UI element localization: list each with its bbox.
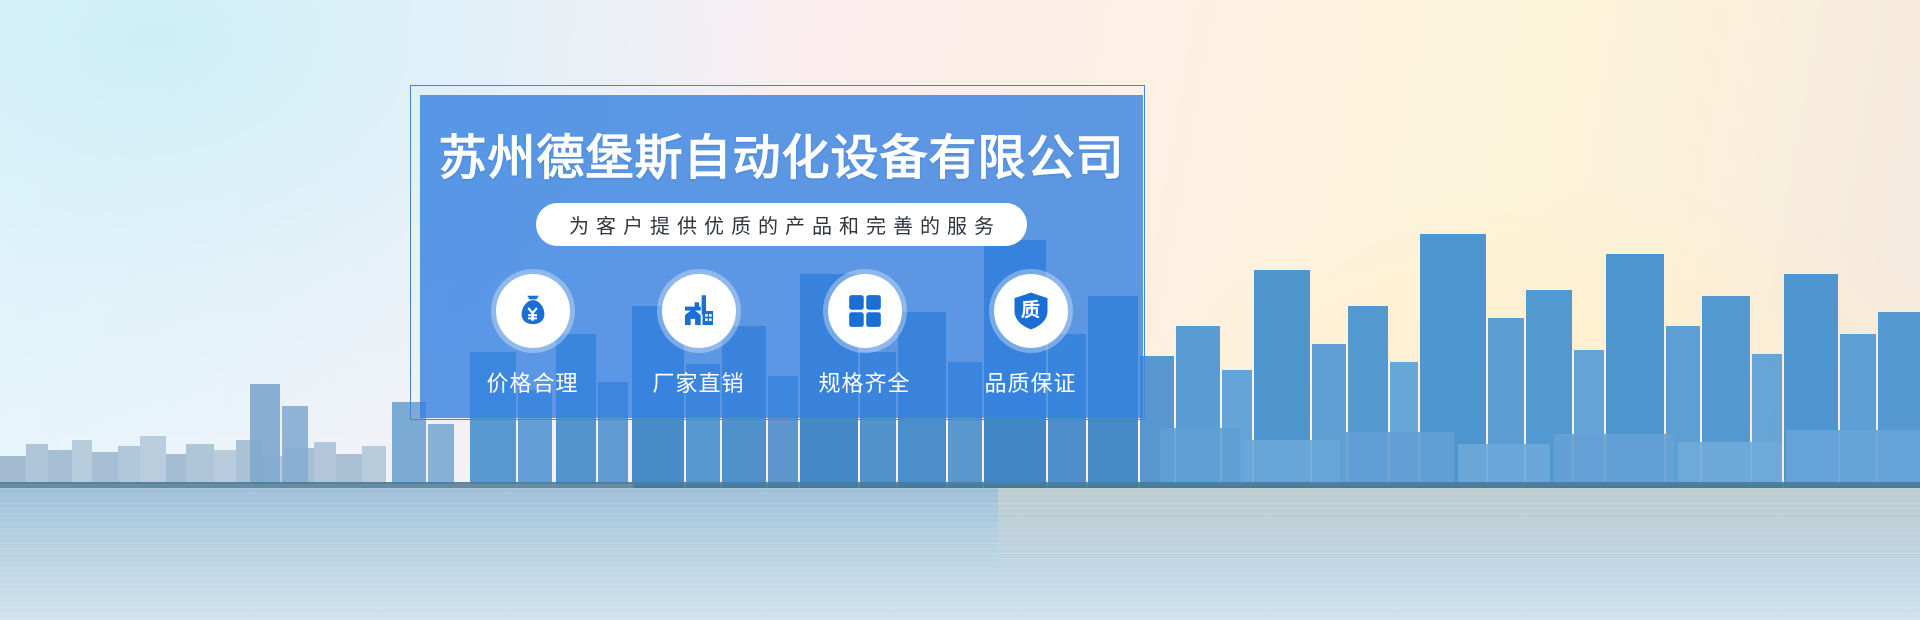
feature-label: 价格合理	[486, 366, 578, 398]
money-bag-icon	[512, 290, 554, 332]
feature-item-price[interactable]: 价格合理	[463, 274, 603, 398]
feature-label: 品质保证	[984, 366, 1076, 398]
subtitle-text: 为客户提供优质的产品和完善的服务	[562, 210, 1001, 239]
banner-panel-border: 苏州德堡斯自动化设备有限公司 为客户提供优质的产品和完善的服务	[410, 85, 1145, 420]
feature-icon-circle	[496, 274, 570, 348]
feature-label: 厂家直销	[652, 366, 744, 398]
subtitle-pill: 为客户提供优质的产品和完善的服务	[536, 203, 1027, 246]
feature-icon-circle: 质	[994, 274, 1068, 348]
factory-icon	[678, 290, 720, 332]
feature-item-quality[interactable]: 质 品质保证	[961, 274, 1101, 398]
shield-glyph: 质	[1009, 289, 1053, 333]
grid-squares-icon	[845, 291, 885, 331]
feature-item-spec[interactable]: 规格齐全	[795, 274, 935, 398]
page-title: 苏州德堡斯自动化设备有限公司	[438, 133, 1124, 185]
feature-list: 价格合理	[463, 274, 1101, 398]
banner-panel: 苏州德堡斯自动化设备有限公司 为客户提供优质的产品和完善的服务	[420, 95, 1143, 418]
feature-item-factory[interactable]: 厂家直销	[629, 274, 769, 398]
feature-icon-circle	[828, 274, 902, 348]
company-banner: 苏州德堡斯自动化设备有限公司 为客户提供优质的产品和完善的服务	[0, 0, 1920, 620]
shield-quality-icon: 质	[1009, 289, 1053, 333]
water-warm-reflection	[998, 488, 1920, 620]
feature-label: 规格齐全	[818, 366, 910, 398]
feature-icon-circle	[662, 274, 736, 348]
